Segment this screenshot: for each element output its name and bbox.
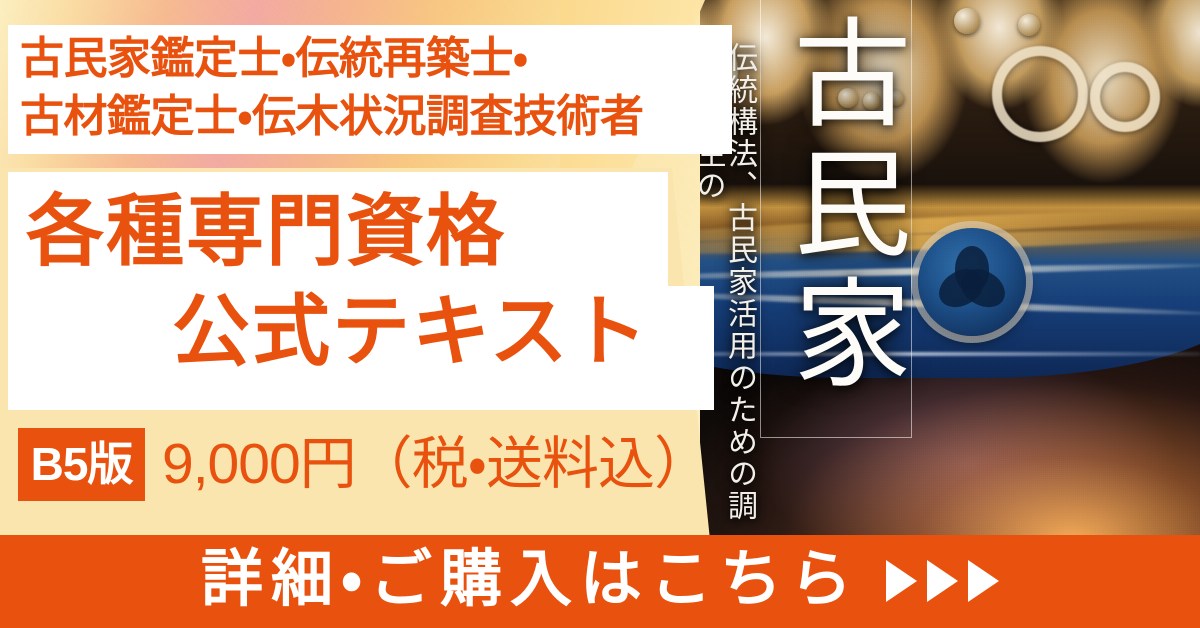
- cta-arrow-group: [886, 560, 999, 602]
- triangle-right-icon: [886, 560, 917, 602]
- cta-label: 詳細・ご購入はこちら: [201, 549, 860, 611]
- carved-bead: [954, 8, 980, 34]
- carved-scroll-curl: [1090, 62, 1160, 132]
- promo-banner: 古民家 伝統構法、古民家活用のための調査と再生の 古民家鑑定士・伝統再築士・ 古…: [0, 0, 1200, 628]
- crest-leaf: [932, 262, 989, 314]
- title-line-2: 公式テキスト: [172, 292, 650, 370]
- format-badge: B5版: [18, 428, 145, 501]
- headline-text: 古民家鑑定士・伝統再築士・ 古材鑑定士・伝木状況調査技術者: [20, 30, 734, 146]
- triangle-right-icon: [968, 560, 999, 602]
- cta-bar[interactable]: 詳細・ご購入はこちら: [0, 535, 1200, 628]
- family-crest-icon: [918, 228, 1026, 336]
- price-text: 9,000円（税・送料込）: [162, 429, 710, 499]
- title-line-1: 各種専門資格: [26, 192, 506, 270]
- headline-line-1: 古民家鑑定士・伝統再築士・: [20, 34, 527, 83]
- carved-scroll-curl: [992, 46, 1088, 142]
- triangle-right-icon: [927, 560, 958, 602]
- cover-title-vertical: 古民家: [766, 12, 906, 402]
- headline-line-2: 古材鑑定士・伝木状況調査技術者: [20, 88, 734, 146]
- carved-bead: [1018, 14, 1040, 36]
